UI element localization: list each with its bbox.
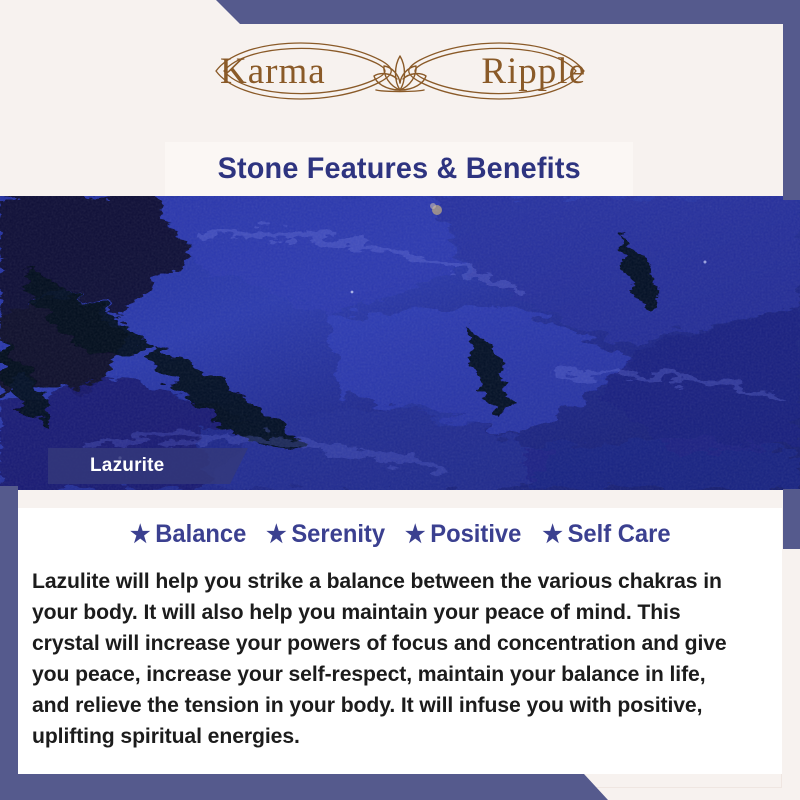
stone-name-banner: Lazurite [48, 448, 248, 484]
keyword-label: Balance [155, 520, 246, 549]
brand-name-right: Ripple [481, 53, 586, 90]
stone-info-card: Karma Ripple Stone Features & Benefits [0, 0, 800, 800]
keyword-label: Positive [430, 520, 521, 549]
brand-wordmark: Karma Ripple [180, 30, 620, 112]
keyword-label: Serenity [291, 520, 385, 549]
section-title-panel: Stone Features & Benefits [165, 142, 633, 196]
decor-band-right-lower [783, 489, 800, 549]
decor-band-right [783, 0, 800, 200]
star-icon: ★ [130, 523, 150, 547]
decor-band-left [0, 486, 18, 800]
keyword-list: ★Balance ★Serenity ★Positive ★Self Care [18, 520, 782, 549]
keyword-self-care: ★Self Care [542, 520, 670, 549]
brand-name-left: Karma [220, 53, 326, 90]
star-icon: ★ [405, 523, 425, 547]
star-icon: ★ [542, 523, 562, 547]
stone-description: Lazulite will help you strike a balance … [32, 566, 747, 752]
star-icon: ★ [266, 523, 286, 547]
keyword-label: Self Care [567, 520, 670, 549]
brand-logo: Karma Ripple [180, 30, 620, 112]
keyword-serenity: ★Serenity [266, 520, 385, 549]
stone-name-label: Lazurite [48, 455, 164, 477]
decor-band-bottom [0, 774, 800, 800]
stone-photo-image [0, 196, 800, 490]
keyword-positive: ★Positive [405, 520, 521, 549]
content-panel: ★Balance ★Serenity ★Positive ★Self Care … [18, 490, 782, 774]
content-top-strip [18, 490, 782, 508]
keyword-balance: ★Balance [130, 520, 246, 549]
stone-photo [0, 196, 800, 490]
page-title: Stone Features & Benefits [217, 152, 580, 186]
